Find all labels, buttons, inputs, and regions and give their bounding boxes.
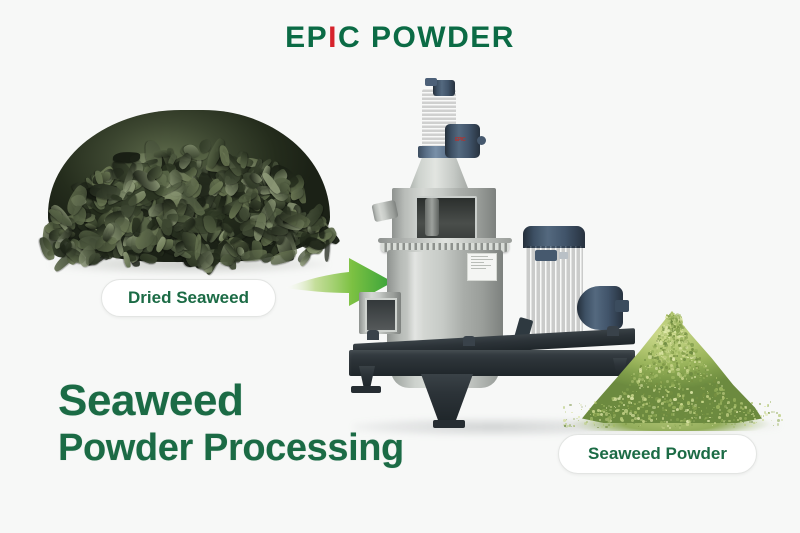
powder-grain [696, 395, 699, 398]
powder-grain [667, 410, 671, 414]
base-foot-center [433, 420, 465, 428]
powder-grain [728, 396, 730, 398]
powder-grain [673, 322, 675, 324]
powder-grain [671, 382, 674, 385]
powder-grain [676, 343, 678, 345]
powder-grain [699, 416, 701, 418]
powder-grain [734, 411, 735, 412]
base-frame-lug-left [367, 330, 379, 340]
page-title-line1: Seaweed [58, 378, 404, 425]
dried-seaweed-image [38, 102, 338, 270]
powder-grain [740, 421, 742, 423]
powder-grain [747, 412, 749, 414]
powder-grain [645, 406, 647, 408]
powder-grain [606, 407, 608, 409]
powder-grain [671, 325, 674, 328]
gearbox-shaft [477, 136, 486, 145]
powder-grain [698, 407, 700, 409]
powder-grain [573, 418, 575, 420]
powder-grain [653, 345, 657, 349]
powder-grain [602, 416, 603, 417]
powder-grain [677, 393, 680, 396]
powder-grain [744, 424, 746, 426]
powder-grain [668, 327, 670, 329]
powder-grain [610, 420, 612, 422]
powder-grain [711, 412, 713, 414]
powder-grain [676, 360, 677, 361]
powder-grain [654, 375, 656, 377]
powder-grain [701, 401, 704, 404]
powder-grain [646, 403, 648, 405]
powder-grain [664, 401, 666, 403]
powder-grain [630, 397, 634, 401]
powder-grain [781, 419, 783, 421]
powder-grain [648, 355, 651, 358]
powder-grain [702, 394, 705, 397]
powder-grain [610, 406, 612, 408]
powder-grain [638, 426, 639, 427]
powder-grain [684, 340, 688, 344]
powder-grain [695, 351, 697, 353]
powder-grain [608, 424, 610, 426]
page-title-line2: Powder Processing [58, 428, 404, 468]
powder-grain [666, 421, 668, 423]
powder-grain [706, 413, 708, 415]
page-title: Seaweed Powder Processing [58, 378, 404, 468]
powder-grain [637, 403, 638, 404]
powder-grain [648, 415, 650, 417]
powder-grain [592, 410, 595, 413]
powder-grain [703, 422, 705, 424]
powder-grain [647, 369, 649, 371]
powder-grain [770, 401, 772, 403]
powder-grain [674, 424, 676, 426]
powder-grain [708, 382, 710, 384]
powder-grain [706, 375, 708, 377]
powder-grain [601, 426, 603, 428]
powder-grain [626, 388, 629, 391]
powder-grain [707, 420, 709, 422]
powder-grain [656, 364, 657, 365]
powder-grain [676, 315, 680, 319]
powder-grain [686, 378, 687, 379]
powder-grain [619, 403, 621, 405]
powder-grain [586, 421, 588, 423]
powder-grain [695, 413, 697, 415]
powder-grain [679, 326, 680, 327]
powder-grain [711, 417, 713, 419]
powder-grain [668, 337, 670, 339]
powder-grain [683, 358, 685, 360]
powder-grain [661, 413, 662, 414]
powder-grain [631, 380, 634, 383]
powder-grain [714, 400, 716, 402]
powder-grain [676, 329, 680, 333]
powder-grain [605, 426, 607, 428]
powder-grain [703, 414, 705, 416]
powder-grain [660, 385, 662, 387]
powder-grain [673, 315, 674, 316]
powder-grain [709, 383, 711, 385]
powder-grain [739, 411, 740, 412]
powder-grain [616, 409, 619, 412]
powder-grain [700, 359, 701, 360]
powder-grain [657, 352, 658, 353]
powder-grain [633, 373, 635, 375]
promotional-banner: EPIC POWDER EPIC [0, 0, 800, 533]
powder-grain [656, 414, 658, 416]
powder-grain [656, 340, 659, 343]
powder-grain [585, 405, 587, 407]
powder-grain [671, 402, 673, 404]
powder-grain [739, 417, 742, 420]
powder-grain [685, 366, 688, 369]
powder-grain [664, 342, 667, 345]
powder-grain [640, 391, 642, 393]
powder-grain [649, 364, 651, 366]
powder-grain [694, 404, 697, 407]
powder-grain [659, 393, 661, 395]
powder-grain [676, 408, 679, 411]
powder-grain [753, 415, 755, 417]
powder-grain [640, 419, 643, 422]
powder-grain [767, 404, 768, 405]
powder-grain [757, 410, 758, 411]
powder-grain [587, 411, 588, 412]
powder-grain [594, 424, 595, 425]
powder-grain [616, 418, 619, 421]
powder-grain [726, 398, 727, 399]
powder-grain [642, 373, 644, 375]
powder-grain [702, 374, 704, 376]
powder-grain [581, 406, 583, 408]
powder-grain [728, 409, 731, 412]
powder-grain [731, 424, 733, 426]
powder-grain [684, 404, 687, 407]
powder-grain [633, 406, 634, 407]
seaweed-powder-label: Seaweed Powder [558, 434, 757, 474]
powder-grain [682, 332, 683, 333]
powder-grain [673, 355, 675, 357]
powder-grain [696, 367, 698, 369]
dried-seaweed-label-text: Dried Seaweed [128, 288, 249, 308]
powder-grain [709, 398, 711, 400]
brand-logo-part2: C POWDER [338, 21, 515, 54]
powder-grain [663, 358, 665, 360]
powder-grain [704, 383, 708, 387]
flange-rim [378, 238, 512, 243]
powder-grain [659, 341, 662, 344]
powder-grain [688, 345, 691, 348]
powder-grain [671, 376, 675, 380]
powder-grain [590, 418, 593, 421]
powder-grain [689, 408, 690, 409]
powder-grain [664, 333, 667, 336]
powder-grain [713, 380, 716, 383]
powder-grain [712, 425, 713, 426]
powder-grain [714, 393, 718, 397]
powder-grain [749, 405, 751, 407]
powder-grain [777, 419, 780, 422]
powder-grain [597, 427, 599, 429]
powder-grain [665, 328, 668, 331]
powder-grain [637, 417, 640, 420]
powder-grain [753, 411, 754, 412]
powder-grain [666, 415, 667, 416]
powder-grain [666, 380, 669, 383]
powder-grain [673, 398, 677, 402]
powder-grain [571, 412, 572, 413]
powder-grain [634, 403, 636, 405]
powder-grain [751, 402, 753, 404]
powder-grain [718, 403, 720, 405]
powder-grain [631, 402, 632, 403]
powder-grain [648, 405, 651, 408]
seaweed-powder-image [556, 305, 786, 435]
powder-grain [578, 416, 579, 417]
powder-grain [684, 375, 686, 377]
powder-grain [616, 405, 618, 407]
brand-logo-part1: EP [285, 21, 328, 54]
powder-grain [661, 403, 662, 404]
powder-grain [668, 404, 671, 407]
powder-grain [706, 369, 708, 371]
powder-grain [682, 423, 684, 425]
powder-grain [716, 405, 720, 409]
powder-grain [686, 354, 688, 356]
side-motor-top-cap [523, 226, 585, 248]
powder-grain [650, 415, 651, 416]
powder-grain [676, 418, 679, 421]
powder-grain [679, 427, 681, 429]
powder-grain [705, 417, 707, 419]
powder-grain [692, 360, 693, 361]
side-motor-terminal-box [535, 250, 557, 261]
powder-grain [695, 401, 697, 403]
powder-grain [638, 401, 640, 403]
powder-grain [669, 391, 672, 394]
powder-grain [621, 419, 624, 422]
base-leg-center [421, 374, 473, 422]
powder-grain [664, 421, 665, 422]
powder-grain [691, 424, 693, 426]
powder-grain [640, 384, 643, 387]
powder-grain [629, 384, 631, 386]
top-motor-fan-cover [425, 78, 437, 86]
feed-inlet-roller [425, 198, 439, 236]
powder-grain [680, 337, 683, 340]
powder-grain [609, 409, 612, 412]
powder-grain [682, 388, 685, 391]
powder-grain [664, 386, 666, 388]
powder-grain [721, 412, 723, 414]
powder-grain [689, 372, 693, 376]
powder-grain [626, 412, 629, 415]
powder-grain [700, 363, 703, 366]
powder-grain [671, 340, 674, 343]
powder-grain [607, 421, 609, 423]
powder-grain [655, 367, 658, 370]
powder-grain [714, 389, 717, 392]
powder-grain [683, 419, 686, 422]
powder-grain [665, 366, 668, 369]
powder-grain [681, 421, 683, 423]
powder-grain [687, 413, 688, 414]
dried-seaweed-label: Dried Seaweed [101, 279, 276, 317]
powder-grain [564, 425, 565, 426]
powder-grain [689, 351, 692, 354]
powder-grain [674, 413, 677, 416]
powder-grain [631, 415, 632, 416]
powder-grain [724, 405, 727, 408]
brand-logo-accent-letter: I [328, 21, 338, 54]
powder-grain [658, 370, 661, 373]
powder-grain [694, 361, 696, 363]
powder-grain [760, 415, 762, 417]
powder-grain [654, 357, 657, 360]
powder-grain [663, 414, 665, 416]
machine-nameplate [467, 253, 497, 281]
powder-grain [686, 423, 689, 426]
powder-grain [709, 403, 711, 405]
powder-grain [632, 419, 634, 421]
powder-grain [728, 420, 730, 422]
base-frame-lug-mid [463, 336, 475, 346]
powder-grain [691, 377, 693, 379]
powder-grain [656, 383, 658, 385]
brand-logo: EPIC POWDER [0, 23, 800, 53]
powder-grain [652, 387, 654, 389]
powder-grain [574, 426, 575, 427]
powder-grain [733, 419, 735, 421]
powder-grain [563, 406, 566, 409]
powder-grain [773, 425, 774, 426]
powder-grain [603, 411, 605, 413]
powder-grain [683, 329, 686, 332]
powder-grain [671, 413, 673, 415]
powder-grain [669, 427, 671, 429]
powder-grain [616, 395, 619, 398]
powder-grain [665, 353, 669, 357]
powder-grain [683, 348, 686, 351]
powder-grain [650, 373, 651, 374]
powder-grain [687, 357, 688, 358]
powder-grain [698, 370, 700, 372]
powder-grain [652, 406, 655, 409]
powder-grain [778, 414, 781, 417]
powder-grain [633, 403, 634, 404]
seaweed-powder-label-text: Seaweed Powder [588, 444, 727, 464]
powder-grain [641, 378, 644, 381]
powder-grain [632, 391, 633, 392]
powder-grain [691, 380, 693, 382]
powder-grain [662, 349, 664, 351]
powder-grain [697, 363, 699, 365]
powder-grain [613, 403, 614, 404]
side-motor-nameplate [559, 252, 568, 259]
powder-grain [674, 387, 676, 389]
powder-grain [688, 366, 691, 369]
powder-grain [679, 386, 682, 389]
powder-grain [719, 387, 723, 391]
powder-grain [733, 406, 736, 409]
powder-grain [650, 383, 653, 386]
powder-grain [701, 410, 703, 412]
gearbox-red-marking: EPIC [455, 137, 465, 143]
discharge-outlet-opening [365, 298, 397, 332]
powder-grain [670, 398, 671, 399]
powder-grain [682, 397, 684, 399]
powder-grain [639, 387, 641, 389]
powder-grain [709, 417, 710, 418]
powder-grain [749, 425, 751, 427]
